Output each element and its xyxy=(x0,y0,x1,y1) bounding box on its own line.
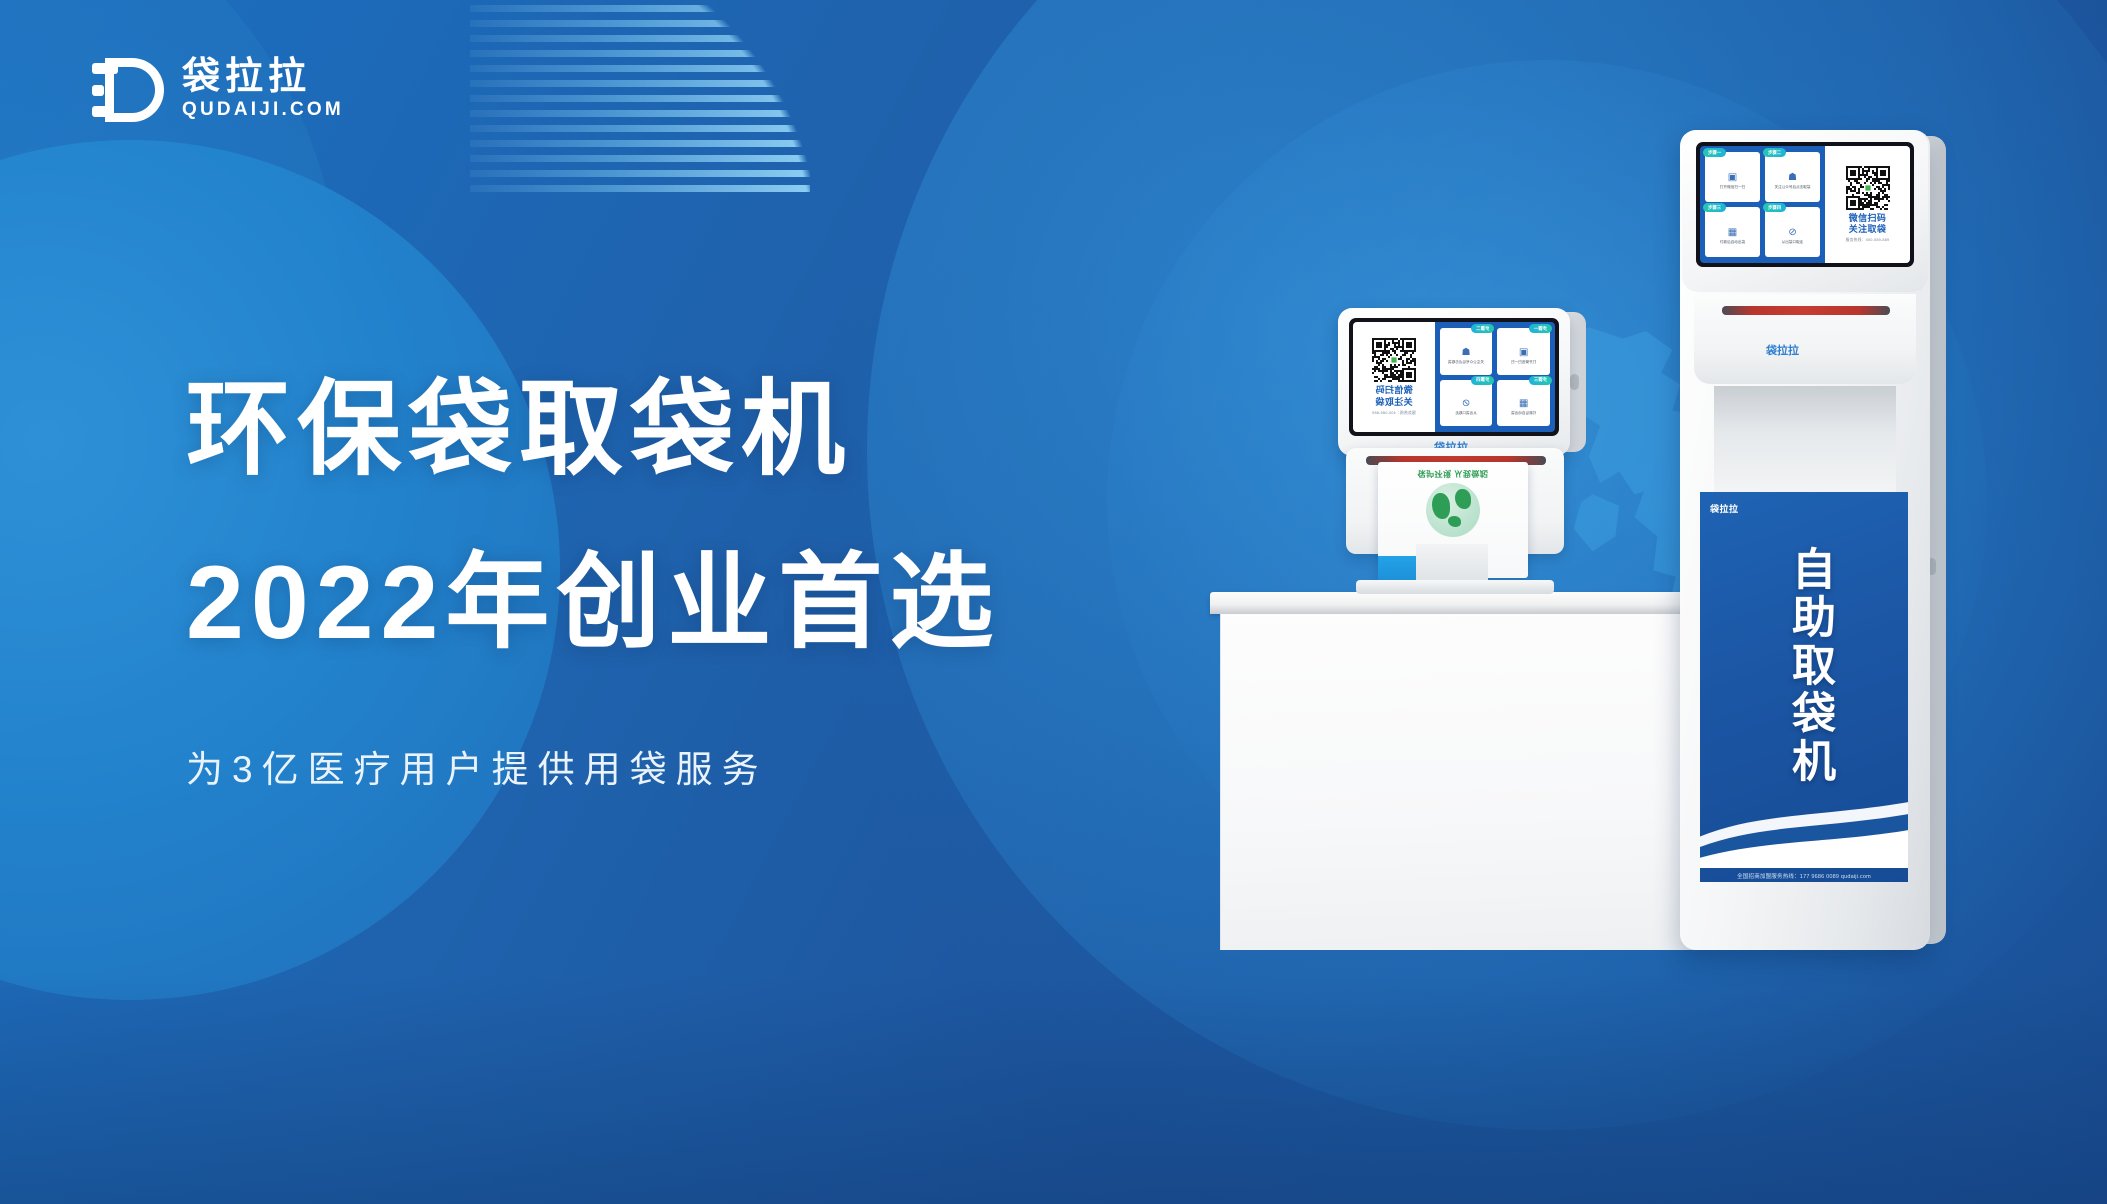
bottom-vignette xyxy=(0,974,2107,1204)
step-card: 步骤三 ▦ 付款后自动出袋 xyxy=(1705,207,1760,257)
step-tag: 步骤一 xyxy=(1529,324,1552,333)
desktop-unit-stand xyxy=(1416,544,1488,584)
screen-ui: 步骤一 ▣ 打开微信扫一扫 步骤二 ☗ 关注公众号后点击取袋 步骤三 xyxy=(1353,322,1555,432)
kiosk-screen[interactable]: 步骤一 ▣ 打开微信扫一扫 步骤二 ☗ 关注公众号后点击取袋 xyxy=(1696,142,1914,267)
follow-account-icon: ☗ xyxy=(1788,173,1797,183)
halftone-stripes-icon xyxy=(470,0,810,220)
step-tag: 步骤四 xyxy=(1763,203,1786,212)
promo-banner: 袋拉拉 QUDAIJI.COM 环保袋取袋机 2022年创业首选 为3亿医疗用户… xyxy=(0,0,2107,1204)
follow-account-icon: ☗ xyxy=(1462,348,1471,358)
product-photo: 步骤一 ▣ 打开微信扫一扫 步骤二 ☗ 关注公众号后点击取袋 步骤三 xyxy=(1180,150,2080,980)
qr-pay-icon: ▦ xyxy=(1519,399,1528,409)
step-card: 步骤二 ☗ 关注公众号后点击取袋 xyxy=(1440,328,1493,375)
qudaiji-d-mark-icon xyxy=(92,58,164,122)
kiosk-body: 步骤一 ▣ 打开微信扫一扫 步骤二 ☗ 关注公众号后点击取袋 xyxy=(1680,130,1930,950)
screen-qr-panel: 微信扫码 关注取袋 服务热线：400-089-889 xyxy=(1353,322,1435,432)
step-caption: 从出袋口取走 xyxy=(1780,240,1806,244)
screen-qr-panel: 微信扫码 关注取袋 服务热线：400-089-889 xyxy=(1825,146,1910,263)
desktop-unit-base: 保护环境 从我做起 xyxy=(1346,448,1564,554)
counter-desk xyxy=(1210,592,1730,950)
step-card: 步骤一 ▣ 打开微信扫一扫 xyxy=(1705,152,1760,202)
step-caption: 关注公众号后点击取袋 xyxy=(1773,185,1813,189)
step-tag: 步骤四 xyxy=(1471,376,1494,385)
cta-line-2: 关注取袋 xyxy=(1849,224,1887,235)
qr-pay-icon: ▦ xyxy=(1728,228,1737,238)
wechat-qr-code-icon[interactable] xyxy=(1372,338,1416,382)
headline-line-1: 环保袋取袋机 xyxy=(186,370,1000,491)
brand-logo[interactable]: 袋拉拉 QUDAIJI.COM xyxy=(92,58,344,122)
brand-name-en: QUDAIJI.COM xyxy=(182,98,344,122)
screen-steps-panel: 步骤一 ▣ 打开微信扫一扫 步骤二 ☗ 关注公众号后点击取袋 xyxy=(1700,146,1825,263)
step-tag: 步骤三 xyxy=(1529,376,1552,385)
hero-copy: 环保袋取袋机 2022年创业首选 为3亿医疗用户提供用袋服务 xyxy=(186,370,1000,793)
hero-subtitle: 为3亿医疗用户提供用袋服务 xyxy=(186,739,1000,793)
step-tag: 步骤三 xyxy=(1703,203,1726,212)
step-caption: 关注公众号后点击取袋 xyxy=(1446,360,1486,364)
service-tel: 服务热线：400-089-889 xyxy=(1372,411,1416,416)
screen-steps-panel: 步骤一 ▣ 打开微信扫一扫 步骤二 ☗ 关注公众号后点击取袋 步骤三 xyxy=(1435,322,1555,432)
take-bag-icon: ⊘ xyxy=(1788,228,1796,238)
scan-code-icon: ▣ xyxy=(1519,348,1528,358)
step-tag: 步骤一 xyxy=(1703,148,1726,157)
screen-cta: 微信扫码 关注取袋 xyxy=(1849,213,1887,236)
step-card: 步骤三 ▦ 付款后自动出袋 xyxy=(1497,380,1550,427)
kiosk-recess xyxy=(1714,386,1896,492)
bag-slogan: 保护环境 从我做起 xyxy=(1418,468,1489,479)
take-bag-icon: ⊘ xyxy=(1462,399,1470,409)
step-tag: 步骤二 xyxy=(1763,148,1786,157)
headline-line-2: 2022年创业首选 xyxy=(186,543,1000,664)
kiosk-branding-panel: 袋拉拉 自助取袋机 全国招商加盟服务热线：177 9686 0089 qudai… xyxy=(1700,492,1908,882)
step-card: 步骤一 ▣ 打开微信扫一扫 xyxy=(1497,328,1550,375)
cta-line-1: 微信扫码 xyxy=(1375,385,1413,396)
kiosk-dispense-head: 袋拉拉 xyxy=(1694,294,1916,384)
step-card: 步骤二 ☗ 关注公众号后点击取袋 xyxy=(1765,152,1820,202)
desktop-unit-screen[interactable]: 步骤一 ▣ 打开微信扫一扫 步骤二 ☗ 关注公众号后点击取袋 步骤三 xyxy=(1349,318,1559,436)
cta-line-2: 关注取袋 xyxy=(1375,397,1413,408)
counter-body xyxy=(1220,614,1720,950)
desktop-bag-dispenser: 步骤一 ▣ 打开微信扫一扫 步骤二 ☗ 关注公众号后点击取袋 步骤三 xyxy=(1338,308,1598,608)
kiosk-panel-logo: 袋拉拉 xyxy=(1710,502,1739,515)
step-caption: 付款后自动出袋 xyxy=(1718,240,1747,244)
desktop-unit-foot xyxy=(1356,580,1554,594)
step-card: 步骤四 ⊘ 从出袋口取走 xyxy=(1440,380,1493,427)
kiosk-head: 步骤一 ▣ 打开微信扫一扫 步骤二 ☗ 关注公众号后点击取袋 xyxy=(1682,130,1928,292)
wechat-qr-code-icon[interactable] xyxy=(1846,166,1890,210)
service-tel: 服务热线：400-089-889 xyxy=(1846,238,1890,243)
desktop-unit-head: 步骤一 ▣ 打开微信扫一扫 步骤二 ☗ 关注公众号后点击取袋 步骤三 xyxy=(1338,308,1570,456)
step-caption: 付款后自动出袋 xyxy=(1509,411,1538,415)
kiosk-dispense-slot xyxy=(1722,306,1890,315)
step-card: 步骤四 ⊘ 从出袋口取走 xyxy=(1765,207,1820,257)
kiosk-head-logo: 袋拉拉 xyxy=(1766,342,1799,358)
cta-line-1: 微信扫码 xyxy=(1849,213,1887,224)
brand-name-cn: 袋拉拉 xyxy=(182,58,344,98)
screen-ui: 步骤一 ▣ 打开微信扫一扫 步骤二 ☗ 关注公众号后点击取袋 xyxy=(1700,146,1910,263)
step-caption: 从出袋口取走 xyxy=(1453,411,1479,415)
step-caption: 打开微信扫一扫 xyxy=(1718,185,1747,189)
scan-code-icon: ▣ xyxy=(1728,173,1737,183)
screen-cta: 微信扫码 关注取袋 xyxy=(1375,385,1413,408)
floor-bag-dispenser-kiosk: 步骤一 ▣ 打开微信扫一扫 步骤二 ☗ 关注公众号后点击取袋 xyxy=(1680,130,1970,950)
kiosk-wave-decoration xyxy=(1700,790,1908,868)
kiosk-panel-title: 自助取袋机 xyxy=(1777,546,1831,826)
green-earth-icon xyxy=(1426,483,1480,537)
step-caption: 打开微信扫一扫 xyxy=(1509,360,1538,364)
step-tag: 步骤二 xyxy=(1471,324,1494,333)
kiosk-panel-footer: 全国招商加盟服务热线：177 9686 0089 qudaiji.com xyxy=(1700,872,1908,880)
